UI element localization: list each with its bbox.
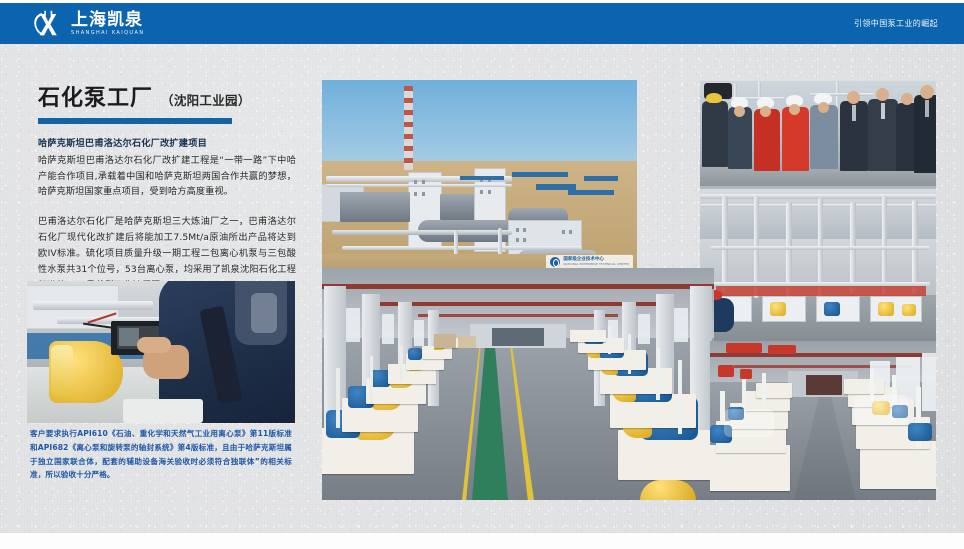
watermark-text-en: NATIONAL ENTERPRISE TECHNICAL CENTER <box>563 263 629 266</box>
photo-piping-hall-art <box>700 186 936 341</box>
kaiquan-logo-icon <box>31 10 65 38</box>
site-header: 上海凯泉 SHANGHAI KAIQUAN 引领中国泵工业的崛起 <box>0 3 964 44</box>
watermark-badge: 国家级企业技术中心 NATIONAL ENTERPRISE TECHNICAL … <box>546 255 633 269</box>
page-title: 石化泵工厂 （沈阳工业园） <box>38 80 296 112</box>
article-heading: 哈萨克斯坦巴甫洛达尔石化厂改扩建项目 <box>38 137 296 151</box>
photo-piping-hall <box>700 186 936 341</box>
brand-wordmark: 上海凯泉 SHANGHAI KAIQUAN <box>71 12 144 36</box>
photo-pump-assembly-aisle-art <box>322 268 714 500</box>
photo-delegation-visit-art <box>700 81 936 186</box>
photo-caption-text: 客户要求执行API610《石油、重化学和天然气工业用离心泵》第11版标准和API… <box>30 427 292 482</box>
watermark-icon <box>550 257 560 267</box>
header-slogan: 引领中国泵工业的崛起 <box>854 18 938 29</box>
photo-pump-packaging-row <box>710 341 936 500</box>
photo-pump-assembly-aisle <box>322 268 714 500</box>
brand-name-en: SHANGHAI KAIQUAN <box>71 31 144 36</box>
photo-refinery-exterior: 国家级企业技术中心 NATIONAL ENTERPRISE TECHNICAL … <box>322 80 637 272</box>
brand-logo[interactable]: 上海凯泉 SHANGHAI KAIQUAN <box>31 10 144 38</box>
photo-pump-packaging-row-art <box>710 341 936 500</box>
page-bottom-border <box>0 533 964 549</box>
brand-name-cn: 上海凯泉 <box>71 12 144 29</box>
photo-field-commissioning <box>27 281 295 423</box>
photo-delegation-visit <box>700 81 936 186</box>
article-paragraph-1: 哈萨克斯坦巴甫洛达尔石化厂改扩建工程是“一带一路”下中哈产能合作项目,承载着中国… <box>38 153 296 200</box>
title-underline <box>38 118 232 124</box>
photo-field-commissioning-art <box>27 281 295 423</box>
article-column: 石化泵工厂 （沈阳工业园） 哈萨克斯坦巴甫洛达尔石化厂改扩建项目 哈萨克斯坦巴甫… <box>38 80 296 293</box>
page-title-main: 石化泵工厂 <box>38 80 153 112</box>
photo-refinery-exterior-art: 国家级企业技术中心 NATIONAL ENTERPRISE TECHNICAL … <box>322 80 637 272</box>
page-title-sub: （沈阳工业园） <box>161 90 251 109</box>
